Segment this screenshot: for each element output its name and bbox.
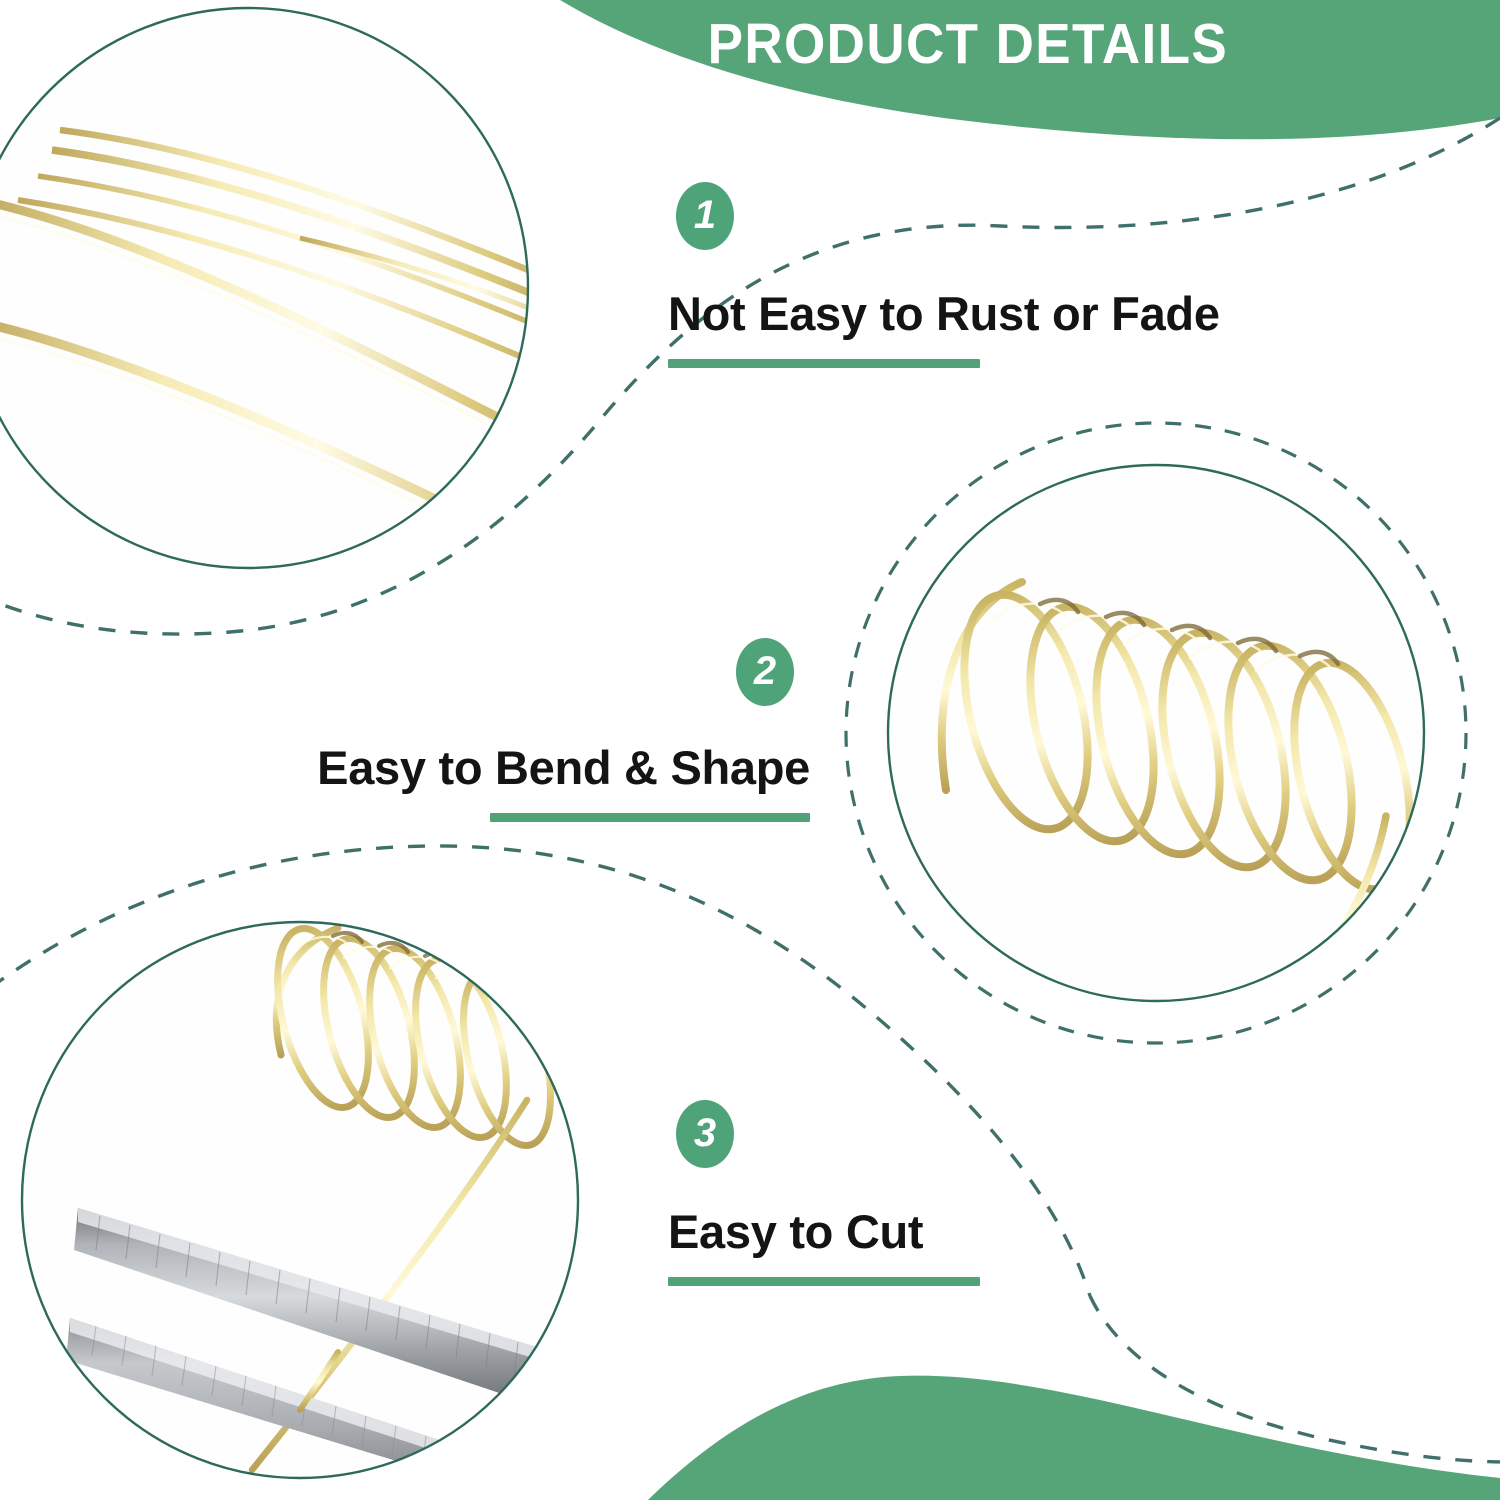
feature-1-number-badge: 1 xyxy=(676,182,734,250)
feature-2-number-badge: 2 xyxy=(736,638,794,706)
feature-block-3: 3 Easy to Cut xyxy=(668,1100,980,1286)
feature-3-number-badge: 3 xyxy=(676,1100,734,1168)
feature-block-2: 2 Easy to Bend & Shape xyxy=(258,638,810,822)
feature-2-number: 2 xyxy=(754,651,776,691)
photo-2-gold-wire-coil xyxy=(870,450,1450,1030)
feature-1-underline xyxy=(668,359,980,368)
feature-2-heading: Easy to Bend & Shape xyxy=(258,744,810,791)
page-title-text: PRODUCT DETAILS xyxy=(708,16,1229,73)
photo-1-gold-wire-strands xyxy=(0,0,620,600)
feature-3-number: 3 xyxy=(694,1113,716,1153)
infographic-canvas: PRODUCT DETAILS 1 Not Easy to Rust or Fa… xyxy=(0,0,1500,1500)
feature-block-1: 1 Not Easy to Rust or Fade xyxy=(668,182,1220,368)
photo-3-scissors-cutting-wire xyxy=(10,910,600,1500)
feature-1-heading: Not Easy to Rust or Fade xyxy=(668,290,1220,337)
page-title: PRODUCT DETAILS xyxy=(648,8,1288,80)
feature-3-underline xyxy=(668,1277,980,1286)
feature-1-number: 1 xyxy=(694,195,716,235)
feature-3-heading: Easy to Cut xyxy=(668,1208,980,1255)
feature-2-underline xyxy=(490,813,810,822)
